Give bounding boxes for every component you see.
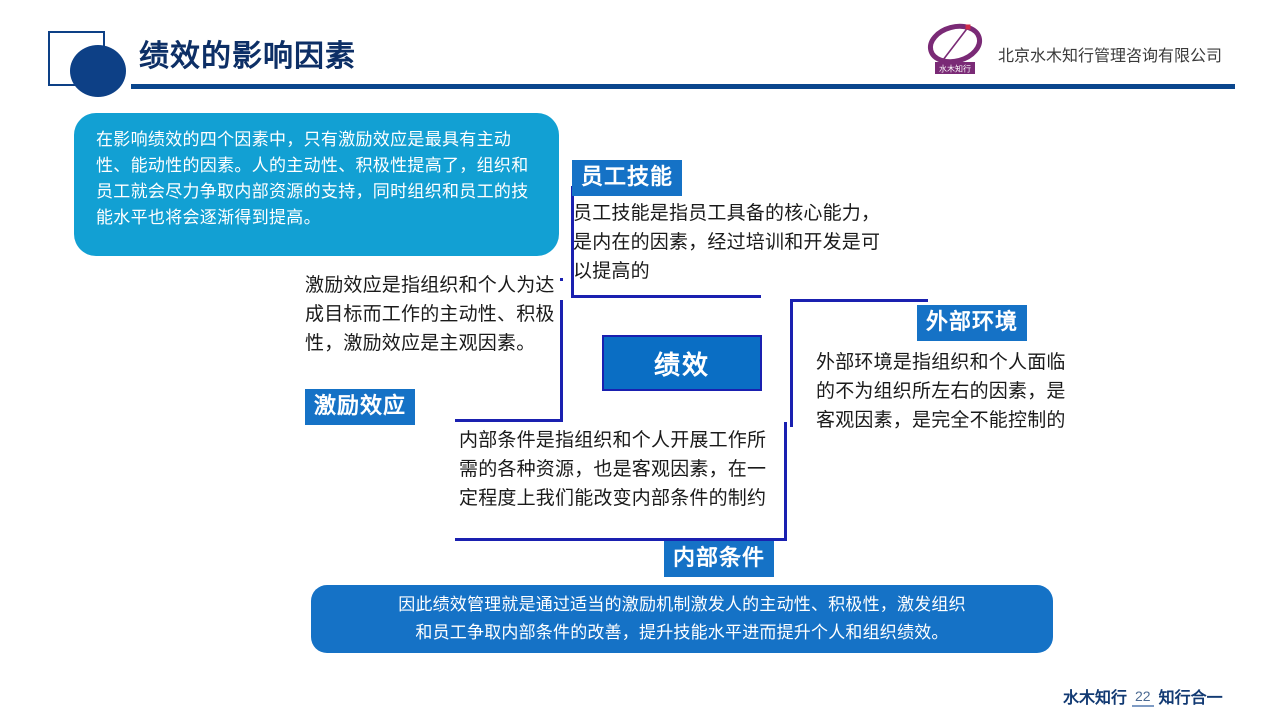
footer-slogan: 知行合一: [1159, 684, 1223, 708]
text-internal-condition: 内部条件是指组织和个人开展工作所需的各种资源，也是客观因素，在一定程度上我们能改…: [459, 426, 781, 513]
center-node-performance: 绩效: [602, 335, 762, 391]
company-logo-icon: 水木知行: [924, 20, 986, 76]
intro-callout: 在影响绩效的四个因素中，只有激励效应是最具有主动性、能动性的因素。人的主动性、积…: [74, 113, 559, 256]
page-title: 绩效的影响因素: [139, 35, 356, 79]
badge-incentive-effect: 激励效应: [305, 389, 415, 425]
conclusion-line-1: 因此绩效管理就是通过适当的激励机制激发人的主动性、积极性，激发组织: [398, 595, 966, 614]
company-name: 北京水木知行管理咨询有限公司: [998, 42, 1222, 66]
text-incentive-effect: 激励效应是指组织和个人为达成目标而工作的主动性、积极性，激励效应是主观因素。: [305, 271, 563, 358]
connector-skill-horizontal: [571, 295, 761, 298]
connector-external-horizontal: [790, 299, 928, 302]
text-external-environment: 外部环境是指组织和个人面临的不为组织所左右的因素，是客观因素，是完全不能控制的: [816, 348, 1074, 435]
footer: 水木知行 22 知行合一: [1063, 684, 1223, 708]
center-node-label: 绩效: [654, 345, 710, 382]
conclusion-callout: 因此绩效管理就是通过适当的激励机制激发人的主动性、积极性，激发组织 和员工争取内…: [311, 585, 1053, 653]
header-circle-decoration: [70, 45, 126, 97]
conclusion-line-2: 和员工争取内部条件的改善，提升技能水平进而提升个人和组织绩效。: [415, 623, 948, 642]
connector-internal-vertical: [784, 422, 787, 540]
slide-canvas: 绩效的影响因素 水木知行 北京水木知行管理咨询有限公司 在影响绩效的四个因素中，…: [0, 0, 1280, 720]
page-number: 22: [1131, 688, 1155, 708]
svg-text:水木知行: 水木知行: [939, 64, 971, 74]
intro-callout-text: 在影响绩效的四个因素中，只有激励效应是最具有主动性、能动性的因素。人的主动性、积…: [96, 127, 539, 231]
badge-employee-skill: 员工技能: [572, 160, 682, 196]
conclusion-callout-text: 因此绩效管理就是通过适当的激励机制激发人的主动性、积极性，激发组织 和员工争取内…: [398, 591, 966, 647]
connector-external-vertical: [790, 299, 793, 427]
footer-brand: 水木知行: [1063, 684, 1127, 708]
text-employee-skill: 员工技能是指员工具备的核心能力，是内在的因素，经过培训和开发是可以提高的: [573, 199, 891, 286]
header-divider: [131, 84, 1235, 89]
connector-incentive-bottom: [455, 419, 563, 422]
badge-external-environment: 外部环境: [917, 305, 1027, 341]
badge-internal-condition: 内部条件: [664, 541, 774, 577]
